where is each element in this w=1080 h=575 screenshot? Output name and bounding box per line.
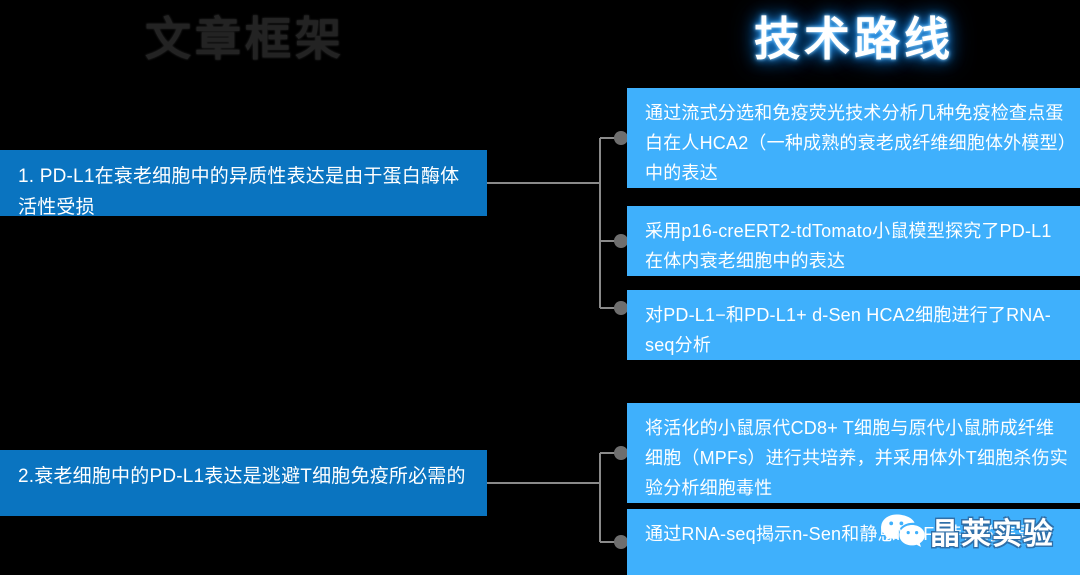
connector-dot-1-1 xyxy=(614,131,628,145)
page-title-right: 技术路线 xyxy=(754,8,1080,70)
page-title-left: 文章框架 xyxy=(145,8,505,70)
left-section-box-2[interactable]: 2.衰老细胞中的PD-L1表达是逃避T细胞免疫所必需的 xyxy=(0,450,487,516)
left-section-box-1[interactable]: 1. PD-L1在衰老细胞中的异质性表达是由于蛋白酶体活性受损 xyxy=(0,150,487,216)
right-method-box-4[interactable]: 将活化的小鼠原代CD8+ T细胞与原代小鼠肺成纤维细胞（MPFs）进行共培养，并… xyxy=(627,403,1080,503)
slide-canvas: 文章框架 技术路线 1. PD-L1在衰老细胞中的异质性表达是由于蛋白酶体活性受… xyxy=(0,0,1080,574)
watermark: 晶莱实验 xyxy=(880,500,1080,562)
right-method-box-2[interactable]: 采用p16-creERT2-tdTomato小鼠模型探究了PD-L1在体内衰老细… xyxy=(627,206,1080,276)
wechat-logo-icon xyxy=(880,511,926,551)
right-method-box-1[interactable]: 通过流式分选和免疫荧光技术分析几种免疫检查点蛋白在人HCA2（一种成熟的衰老成纤… xyxy=(627,88,1080,188)
connector-dot-2-2 xyxy=(614,535,628,549)
connector-dot-1-3 xyxy=(614,301,628,315)
connector-lines xyxy=(480,0,640,574)
watermark-text: 晶莱实验 xyxy=(930,509,1054,553)
right-method-box-3[interactable]: 对PD-L1−和PD-L1+ d-Sen HCA2细胞进行了RNA-seq分析 xyxy=(627,290,1080,360)
connector-dot-2-1 xyxy=(614,446,628,460)
connector-dot-1-2 xyxy=(614,234,628,248)
